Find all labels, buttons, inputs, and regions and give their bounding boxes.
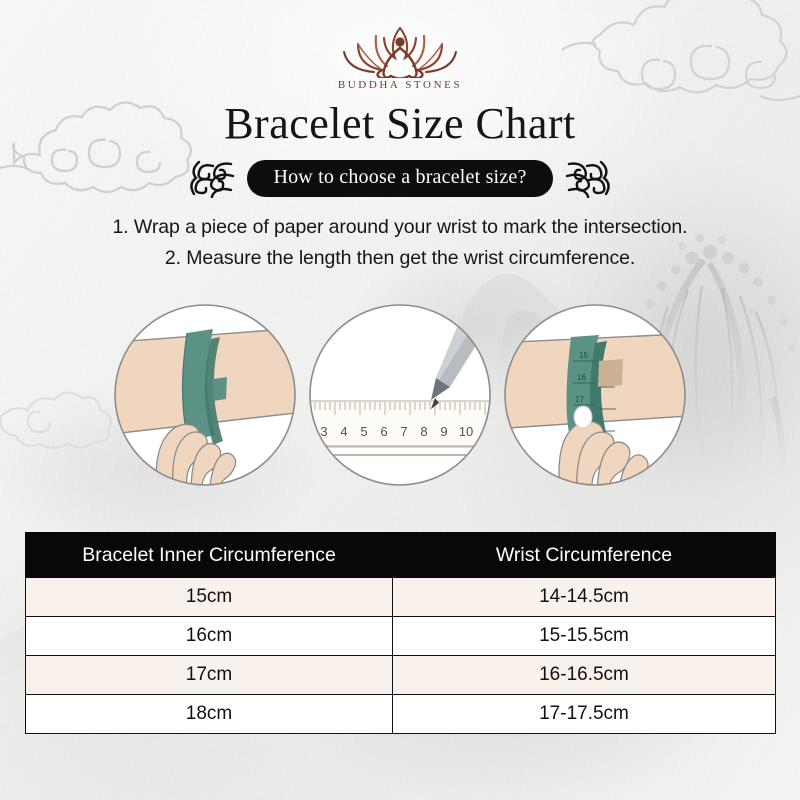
svg-text:9: 9 [440,424,447,439]
svg-text:6: 6 [380,424,387,439]
subtitle-row: How to choose a bracelet size? [0,158,800,198]
flourish-ornament-right-icon [565,158,611,198]
svg-text:8: 8 [420,424,427,439]
flourish-ornament-left-icon [189,158,235,198]
column-header-bracelet-inner-circumference: Bracelet Inner Circumference [26,533,393,578]
size-table: Bracelet Inner Circumference Wrist Circu… [25,532,776,734]
size-chart-page: BUDDHA STONES Bracelet Size Chart How to… [0,0,800,800]
cell-bracelet-inner: 16cm [26,617,393,656]
svg-text:7: 7 [400,424,407,439]
lotus-meditation-logo-icon [336,18,464,78]
cell-bracelet-inner: 18cm [26,695,393,734]
svg-text:3: 3 [320,424,327,439]
brand-name: BUDDHA STONES [0,79,800,91]
instructions-list: 1. Wrap a piece of paper around your wri… [0,212,800,274]
wrist-with-paper-strip-illustration [113,303,297,487]
cell-bracelet-inner: 15cm [26,578,393,617]
svg-text:4: 4 [340,424,347,439]
subtitle-pill: How to choose a bracelet size? [247,160,552,197]
cell-wrist: 16-16.5cm [393,656,776,695]
svg-text:17: 17 [575,395,584,404]
svg-text:5: 5 [360,424,367,439]
brand-logo: BUDDHA STONES [0,18,800,91]
svg-text:15: 15 [579,351,588,360]
cell-wrist: 14-14.5cm [393,578,776,617]
ruler-and-pencil-illustration: 34 56 78 910 1112 [308,303,492,487]
instruction-step-2: 2. Measure the length then get the wrist… [0,243,800,274]
table-row: 16cm 15-15.5cm [26,617,776,656]
instruction-step-1: 1. Wrap a piece of paper around your wri… [0,212,800,243]
svg-text:16: 16 [577,373,586,382]
cell-wrist: 15-15.5cm [393,617,776,656]
illustrations-row: 34 56 78 910 1112 [0,300,800,492]
table-row: 15cm 14-14.5cm [26,578,776,617]
measuring-tape-on-wrist-illustration: 15 16 17 [503,303,687,487]
table-header-row: Bracelet Inner Circumference Wrist Circu… [26,533,776,578]
cell-bracelet-inner: 17cm [26,656,393,695]
page-title: Bracelet Size Chart [0,98,800,149]
svg-text:10: 10 [459,424,473,439]
table-row: 18cm 17-17.5cm [26,695,776,734]
cell-wrist: 17-17.5cm [393,695,776,734]
table-row: 17cm 16-16.5cm [26,656,776,695]
column-header-wrist-circumference: Wrist Circumference [393,533,776,578]
